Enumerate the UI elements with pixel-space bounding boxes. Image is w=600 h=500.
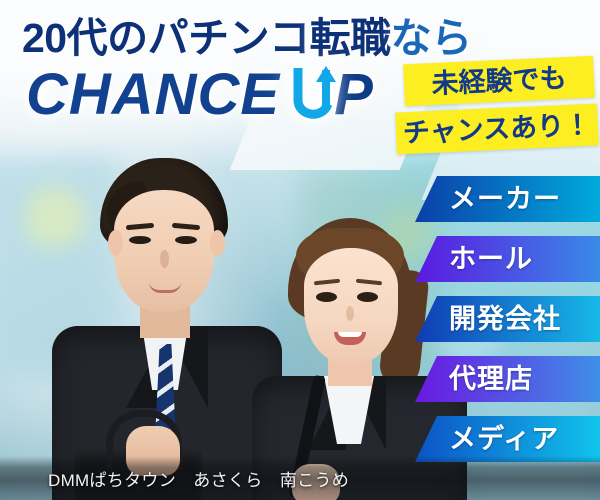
advertisement-banner: 20代のパチンコ転職なら CHANCEP 未経験でも チャンスあり！ メーカー … [0, 0, 600, 500]
category-button-maker[interactable]: メーカー [415, 176, 600, 222]
caption-bar: DMMぱちタウン あさくら 南こうめ [0, 456, 600, 500]
headline-line1-mid: 転職 [310, 15, 391, 61]
category-button-hall[interactable]: ホール [415, 236, 600, 282]
category-button-agency[interactable]: 代理店 [415, 356, 600, 402]
caption-text: DMMぱちタウン あさくら 南こうめ [48, 466, 349, 491]
category-button-developer[interactable]: 開発会社 [415, 296, 600, 342]
badge-chance-available-label: チャンスあり！ [402, 111, 591, 147]
category-label-developer: 開発会社 [449, 306, 561, 333]
photo-businessman [52, 158, 282, 500]
headline-line1-main: 20代のパチンコ [22, 15, 310, 61]
logo-u-arrow-icon [292, 66, 336, 124]
logo-p-text: P [334, 62, 374, 127]
category-label-agency: 代理店 [449, 366, 533, 393]
category-label-maker: メーカー [449, 186, 561, 213]
badge-no-experience: 未経験でも [403, 56, 595, 107]
headline-line1-tail: なら [391, 15, 472, 61]
logo-chance-text: CHANCE [26, 62, 280, 127]
category-label-hall: ホール [449, 246, 533, 273]
logo-up-group: P [292, 62, 374, 127]
category-list: メーカー ホール 開発会社 代理店 メディア [415, 176, 600, 476]
badge-no-experience-label: 未経験でも [431, 64, 567, 97]
category-label-media: メディア [449, 426, 559, 453]
headline-line-1: 20代のパチンコ転職なら [22, 18, 472, 59]
